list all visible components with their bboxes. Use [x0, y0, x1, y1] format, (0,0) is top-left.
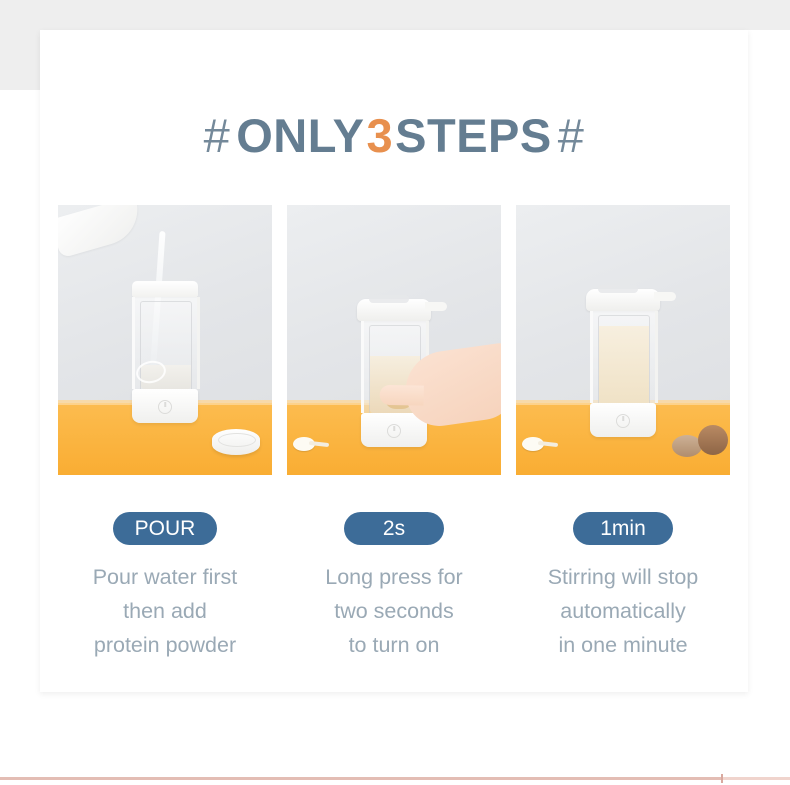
powder-spoon	[522, 437, 556, 451]
bottle-collar	[132, 281, 198, 297]
top-background-band	[0, 0, 790, 30]
caption-line: Stirring will stop	[508, 560, 738, 594]
step-caption: Pour water first then add protein powder	[50, 560, 280, 662]
title-word-only: ONLY	[236, 109, 364, 162]
infographic-card: #ONLY3STEPS#	[40, 30, 748, 692]
powder-spoon	[293, 437, 327, 451]
step-photo-pour	[58, 205, 272, 475]
bottle-lid	[357, 299, 431, 321]
caption-line: in one minute	[508, 628, 738, 662]
step-item: POUR Pour water first then add protein p…	[58, 205, 272, 662]
power-button-icon	[387, 424, 401, 438]
page-title: #ONLY3STEPS#	[40, 108, 748, 163]
caption-line: automatically	[508, 594, 738, 628]
title-step-count: 3	[365, 109, 396, 162]
step-caption: Stirring will stop automatically in one …	[508, 560, 738, 662]
shaker-bottle	[590, 289, 656, 437]
macaron	[698, 425, 728, 455]
bottom-rule-right-segment	[722, 777, 790, 780]
bottom-rule-tick	[721, 774, 723, 783]
caption-line: Pour water first	[50, 560, 280, 594]
step-badge: 2s	[344, 512, 444, 545]
caption-line: to turn on	[279, 628, 509, 662]
step-photo-result	[516, 205, 730, 475]
macarons	[672, 425, 728, 457]
caption-line: Long press for	[279, 560, 509, 594]
bottle-lid	[586, 289, 660, 311]
power-button-icon	[616, 414, 630, 428]
bottle-contents-shake	[599, 326, 649, 403]
shaker-bottle	[132, 281, 198, 423]
caption-line: then add	[50, 594, 280, 628]
hash-left-symbol: #	[198, 109, 237, 162]
bottom-rule	[0, 777, 790, 780]
detached-lid	[212, 429, 260, 455]
left-background-band	[0, 30, 40, 90]
step-photo-press	[287, 205, 501, 475]
caption-line: protein powder	[50, 628, 280, 662]
caption-line: two seconds	[279, 594, 509, 628]
bottle-base	[590, 403, 656, 437]
title-word-steps: STEPS	[395, 109, 552, 162]
bottle-glass-body	[590, 311, 658, 403]
step-item: 2s Long press for two seconds to turn on	[287, 205, 501, 662]
hash-right-symbol: #	[552, 109, 591, 162]
steps-row: POUR Pour water first then add protein p…	[58, 205, 730, 662]
step-caption: Long press for two seconds to turn on	[279, 560, 509, 662]
step-badge: 1min	[573, 512, 673, 545]
power-button-icon	[158, 400, 172, 414]
step-item: 1min Stirring will stop automatically in…	[516, 205, 730, 662]
bottle-base	[132, 389, 198, 423]
step-badge: POUR	[113, 512, 218, 545]
pointing-finger	[380, 385, 424, 406]
